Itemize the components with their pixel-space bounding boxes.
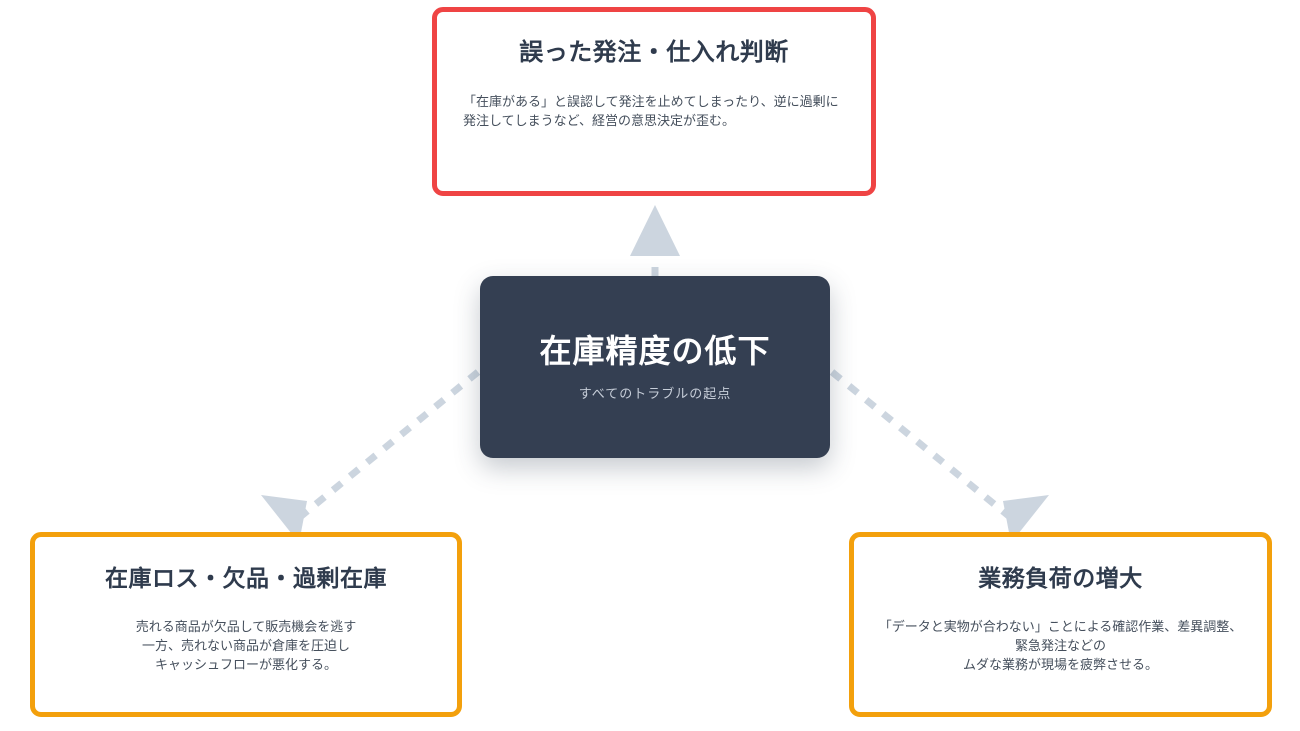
connector-root-to-top (630, 205, 680, 276)
node-bottom-right-description: 「データと実物が合わない」ことによる確認作業、差異調整、緊急発注などのムダな業務… (874, 617, 1247, 674)
node-root-cause[interactable]: 在庫精度の低下 すべてのトラブルの起点 (480, 276, 830, 458)
diagram-canvas: 誤った発注・仕入れ判断 「在庫がある」と誤認して発注を止めてしまったり、逆に過剰… (0, 0, 1300, 731)
connector-root-to-top-arrowhead (630, 205, 680, 256)
node-bottom-right-consequence[interactable]: 業務負荷の増大 「データと実物が合わない」ことによる確認作業、差異調整、緊急発注… (849, 532, 1272, 717)
connector-root-to-bottom-right-line (832, 372, 1010, 517)
connector-root-to-bottom-left (261, 372, 478, 543)
node-bottom-right-title: 業務負荷の増大 (978, 563, 1143, 593)
node-top-title: 誤った発注・仕入れ判断 (519, 38, 789, 68)
node-top-description: 「在庫がある」と誤認して発注を止めてしまったり、逆に過剰に発注してしまうなど、経… (463, 92, 845, 130)
node-bottom-left-title: 在庫ロス・欠品・過剰在庫 (105, 563, 387, 593)
node-top-consequence[interactable]: 誤った発注・仕入れ判断 「在庫がある」と誤認して発注を止めてしまったり、逆に過剰… (432, 7, 876, 196)
connector-root-to-bottom-right (832, 372, 1049, 543)
connector-root-to-bottom-left-line (300, 372, 478, 517)
node-root-subtitle: すべてのトラブルの起点 (579, 385, 732, 403)
node-root-title: 在庫精度の低下 (539, 331, 770, 371)
node-bottom-left-description: 売れる商品が欠品して販売機会を逃す一方、売れない商品が倉庫を圧迫しキャッシュフロ… (136, 617, 357, 674)
node-bottom-left-consequence[interactable]: 在庫ロス・欠品・過剰在庫 売れる商品が欠品して販売機会を逃す一方、売れない商品が… (30, 532, 462, 717)
